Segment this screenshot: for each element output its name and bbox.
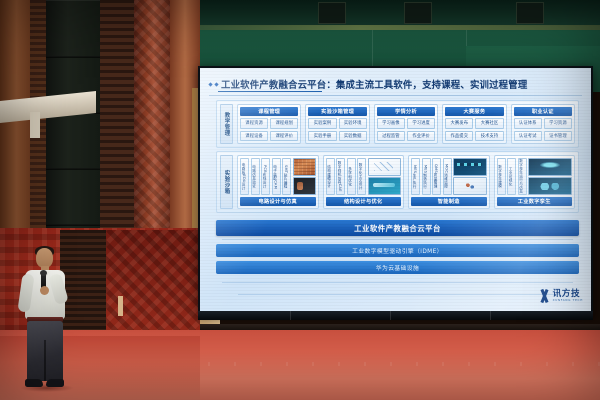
patterned-red-wall-inner (106, 230, 200, 340)
module-chip[interactable]: 课程规划 (270, 118, 298, 129)
module-learning-analytics[interactable]: 学情分析 学习画像 学习进度 过程监管 作业评价 (374, 104, 438, 144)
module-chip[interactable]: 学习资源 (544, 118, 572, 129)
module-header: 大赛服务 (445, 107, 503, 116)
sandbox-footer-text: 结构设计与优化 (344, 198, 382, 205)
chip-label: 学习资源 (549, 120, 567, 126)
slide-title-row: 工业软件产教融合云平台：集成主流工具软件，支持课程、实训过程管理 (209, 76, 583, 92)
tool-label: SMT贴片编程 (284, 165, 289, 188)
bullet-diamond-icon (208, 82, 212, 86)
layer-divider (222, 239, 573, 240)
sandbox-footer-text: 工业数字孪生 (518, 198, 551, 205)
tool-label: MES生产执行 (413, 165, 418, 188)
module-header-text: 实验沙箱管理 (321, 108, 354, 115)
tool-chip[interactable]: 电路板EDA设计 (240, 158, 249, 195)
module-chip-grid: 课程资源 课程规划 课程设备 课程评价 (240, 118, 298, 141)
experiment-sandbox-text: 实验沙箱 (223, 170, 231, 194)
module-chip[interactable]: 作品提交 (445, 131, 473, 142)
pcb-board-thumbnail (293, 158, 316, 176)
tool-label: 电路板EDA设计 (242, 163, 247, 190)
vendor-wordmark: 讯方技 XUNFANG TECH (553, 290, 583, 301)
tool-chip[interactable]: 数字孪生建模 (497, 158, 506, 195)
lighting-bar (200, 25, 600, 30)
layer-divider (222, 282, 573, 283)
module-chip[interactable]: 课程评价 (270, 131, 298, 142)
module-chip[interactable]: 实验手册 (308, 131, 336, 142)
layer-divider (238, 294, 559, 295)
speaker-seam (46, 168, 100, 170)
module-career-certification[interactable]: 职业认证 认证体系 学习资源 认证考试 证书管理 (511, 104, 575, 144)
production-line-thumbnail (453, 158, 487, 176)
fixture-stem (30, 112, 40, 138)
chip-label: 学习进度 (412, 120, 430, 126)
cae-simulation-thumbnail (368, 177, 402, 195)
bezel-seam (290, 311, 291, 320)
truss-fixture (404, 2, 432, 24)
presenter-left-shoe (25, 379, 43, 387)
module-chip[interactable]: 技术支持 (475, 131, 503, 142)
truss-fixture (516, 2, 544, 24)
chip-label: 实验手册 (314, 133, 332, 139)
thumbnail-stack (368, 158, 402, 195)
tool-chip[interactable]: 数字化工艺设计 (357, 158, 366, 195)
presenter-hand (40, 286, 49, 295)
sandbox-group-smart-manufacturing[interactable]: MES生产执行 MES制造执行 QMS质量管理 MOC运维监控 智能制造 (408, 155, 490, 209)
sandbox-group-circuit[interactable]: 电路板EDA设计 电路仿真验证 PCB布线设计 电子装配CAM SMT贴片编程 … (237, 155, 319, 209)
module-header-text: 学情分析 (395, 108, 417, 115)
tool-chip[interactable]: SMT贴片编程 (282, 158, 291, 195)
chip-label: 课程规划 (276, 120, 294, 126)
speaker-seam (46, 56, 100, 58)
presenter-leg-split (44, 340, 46, 381)
chip-label: 大赛发布 (451, 120, 469, 126)
sandbox-group-footer: 工业数字孪生 (497, 197, 573, 206)
digital-twin-thumbnail (528, 158, 572, 176)
sandbox-group-footer: 智能制造 (411, 197, 487, 206)
presentation-slide[interactable]: 工业软件产教融合云平台：集成主流工具软件，支持课程、实训过程管理 教学管理 课程… (200, 68, 591, 311)
tool-chip[interactable]: 电子装配CAM (272, 158, 281, 195)
tool-chip[interactable]: 多学科优化 (347, 158, 356, 195)
tool-chip[interactable]: 结构建模设计 (326, 158, 335, 195)
module-header-text: 大赛服务 (463, 108, 485, 115)
module-chip-grid: 学习画像 学习进度 过程监管 作业评价 (377, 118, 435, 141)
tool-label: 数字孪生运行与仿真 (520, 159, 525, 193)
chip-label: 技术支持 (481, 133, 499, 139)
module-chip[interactable]: 大赛发布 (445, 118, 473, 129)
chip-label: 课程评价 (276, 133, 294, 139)
truss-fixture (318, 2, 346, 24)
tool-chip[interactable]: QMS质量管理 (432, 158, 441, 195)
tool-label: 电路仿真验证 (253, 165, 258, 188)
teaching-management-label: 教学管理 (220, 104, 233, 144)
module-sandbox-management[interactable]: 实验沙箱管理 实验案例 实验环境 实验手册 实验数据 (305, 104, 369, 144)
tool-chip[interactable]: 工业可视化 (507, 158, 516, 195)
chip-label: 实验数据 (344, 133, 362, 139)
thumbnail-stack (528, 158, 572, 195)
chip-label: 学习画像 (382, 120, 400, 126)
vendor-logo: 讯方技 XUNFANG TECH (538, 289, 583, 303)
chip-label: 作业评价 (412, 133, 430, 139)
module-chip[interactable]: 认证考试 (514, 131, 542, 142)
platform-bar[interactable]: 工业软件产教融合云平台 (216, 220, 579, 236)
module-chip[interactable]: 学习进度 (407, 118, 435, 129)
sandbox-group-body: 电路板EDA设计 电路仿真验证 PCB布线设计 电子装配CAM SMT贴片编程 (240, 158, 316, 195)
teaching-management-text: 教学管理 (223, 112, 231, 136)
chip-label: 实验环境 (344, 120, 362, 126)
sandbox-footer-text: 智能制造 (438, 198, 460, 205)
module-chip[interactable]: 实验案例 (308, 118, 336, 129)
scene-photograph: 工业软件产教融合云平台：集成主流工具软件，支持课程、实训过程管理 教学管理 课程… (0, 0, 600, 400)
tool-chip[interactable]: 数字样机仿真CAE (336, 158, 345, 195)
tool-label: MES制造执行 (424, 165, 429, 188)
engine-bar-text: 工业数字模型驱动引擎（iDME） (352, 246, 443, 255)
module-chip[interactable]: 过程监管 (377, 131, 405, 142)
sandbox-group-digital-twin[interactable]: 数字孪生建模 工业可视化 数字孪生运行与仿真 工业数字孪生 (494, 155, 576, 209)
robot-cell-thumbnail (528, 177, 572, 195)
chip-label: 作品提交 (451, 133, 469, 139)
thumbnail-stack (293, 158, 316, 195)
module-chip-grid: 认证体系 学习资源 认证考试 证书管理 (514, 118, 572, 141)
tool-label: 多学科优化 (349, 167, 354, 186)
tool-label: MOC运维监控 (445, 164, 450, 188)
sandbox-group-footer: 电路设计与仿真 (240, 197, 316, 206)
bezel-seam (490, 311, 491, 320)
module-chip[interactable]: 实验数据 (339, 131, 367, 142)
sandbox-group-structure[interactable]: 结构建模设计 数字样机仿真CAE 多学科优化 数字化工艺设计 结构设计与优化 (323, 155, 405, 209)
tool-label: 电子装配CAM (274, 165, 279, 189)
title-divider (209, 95, 582, 96)
tool-chip[interactable]: MES生产执行 (411, 158, 420, 195)
tool-label: PCB布线设计 (263, 165, 268, 188)
tool-chip[interactable]: 电路仿真验证 (251, 158, 260, 195)
speaker-seam (46, 224, 100, 226)
infrastructure-bar-text: 华为云基础设施 (376, 263, 419, 272)
tool-label: 结构建模设计 (328, 165, 333, 188)
stage-prop (118, 296, 123, 316)
module-chip-grid: 实验案例 实验环境 实验手册 实验数据 (308, 118, 366, 141)
module-header: 实验沙箱管理 (308, 107, 366, 116)
bezel-seam (390, 311, 391, 320)
module-chip[interactable]: 课程资源 (240, 118, 268, 129)
platform-bar-text: 工业软件产教融合云平台 (354, 223, 441, 234)
module-header-text: 课程管理 (258, 108, 280, 115)
title-underline (218, 91, 322, 92)
screen-bottom-bezel (198, 311, 593, 320)
chip-label: 过程监管 (382, 133, 400, 139)
tool-label: 工业可视化 (509, 167, 514, 186)
vendor-name-en: XUNFANG TECH (553, 299, 583, 302)
module-chip[interactable]: 课程设备 (240, 131, 268, 142)
tool-chip[interactable]: 数字孪生运行与仿真 (518, 158, 527, 195)
presenter-right-shoe (46, 379, 64, 387)
module-competition-service[interactable]: 大赛服务 大赛发布 大赛社区 作品提交 技术支持 (442, 104, 506, 144)
tool-chip[interactable]: MOC运维监控 (443, 158, 452, 195)
teaching-management-band: 教学管理 课程管理 课程资源 课程规划 课程设备 课程评价 实验沙箱管理 实验案… (216, 100, 579, 148)
tool-chip[interactable]: PCB布线设计 (261, 158, 270, 195)
chip-label: 认证考试 (519, 133, 537, 139)
module-course-management[interactable]: 课程管理 课程资源 课程规划 课程设备 课程评价 (237, 104, 301, 144)
tool-label: 数字样机仿真CAE (338, 161, 343, 192)
module-chip[interactable]: 大赛社区 (475, 118, 503, 129)
presenter (14, 248, 76, 400)
process-diagram-thumbnail (453, 177, 487, 195)
circuit-workbench-thumbnail (293, 177, 316, 195)
module-header-text: 职业认证 (532, 108, 554, 115)
chip-label: 大赛社区 (481, 120, 499, 126)
chip-label: 课程设备 (245, 133, 263, 139)
sandbox-group-body: 数字孪生建模 工业可视化 数字孪生运行与仿真 (497, 158, 573, 195)
thumbnail-stack (453, 158, 487, 195)
x-mark-icon (538, 289, 551, 303)
presenter-head (36, 248, 53, 268)
experiment-sandbox-band: 实验沙箱 电路板EDA设计 电路仿真验证 PCB布线设计 电子装配CAM SMT… (216, 151, 579, 213)
module-chip-grid: 大赛发布 大赛社区 作品提交 技术支持 (445, 118, 503, 141)
bullet-diamond-icon (214, 82, 218, 86)
module-chip[interactable]: 证书管理 (544, 131, 572, 142)
sandbox-group-footer: 结构设计与优化 (326, 197, 402, 206)
slide-title: 工业软件产教融合云平台：集成主流工具软件，支持课程、实训过程管理 (221, 77, 527, 91)
sandbox-group-body: MES生产执行 MES制造执行 QMS质量管理 MOC运维监控 (411, 158, 487, 195)
chip-label: 实验案例 (314, 120, 332, 126)
chip-label: 课程资源 (245, 120, 263, 126)
tool-label: QMS质量管理 (434, 164, 439, 188)
module-header: 学情分析 (377, 107, 435, 116)
module-header: 职业认证 (514, 107, 572, 116)
sandbox-group-body: 结构建模设计 数字样机仿真CAE 多学科优化 数字化工艺设计 (326, 158, 402, 195)
tool-label: 数字化工艺设计 (359, 163, 364, 190)
sandbox-footer-text: 电路设计与仿真 (259, 198, 297, 205)
tool-label: 数字孪生建模 (499, 165, 504, 188)
chip-label: 证书管理 (549, 133, 567, 139)
infrastructure-bar[interactable]: 华为云基础设施 (216, 261, 579, 274)
chip-label: 认证体系 (519, 120, 537, 126)
module-chip[interactable]: 实验环境 (339, 118, 367, 129)
module-chip[interactable]: 认证体系 (514, 118, 542, 129)
tool-chip[interactable]: MES制造执行 (422, 158, 431, 195)
cad-model-thumbnail (368, 158, 402, 176)
module-chip[interactable]: 作业评价 (407, 131, 435, 142)
module-header: 课程管理 (240, 107, 298, 116)
module-chip[interactable]: 学习画像 (377, 118, 405, 129)
engine-bar[interactable]: 工业数字模型驱动引擎（iDME） (216, 244, 579, 257)
experiment-sandbox-label: 实验沙箱 (220, 155, 233, 209)
